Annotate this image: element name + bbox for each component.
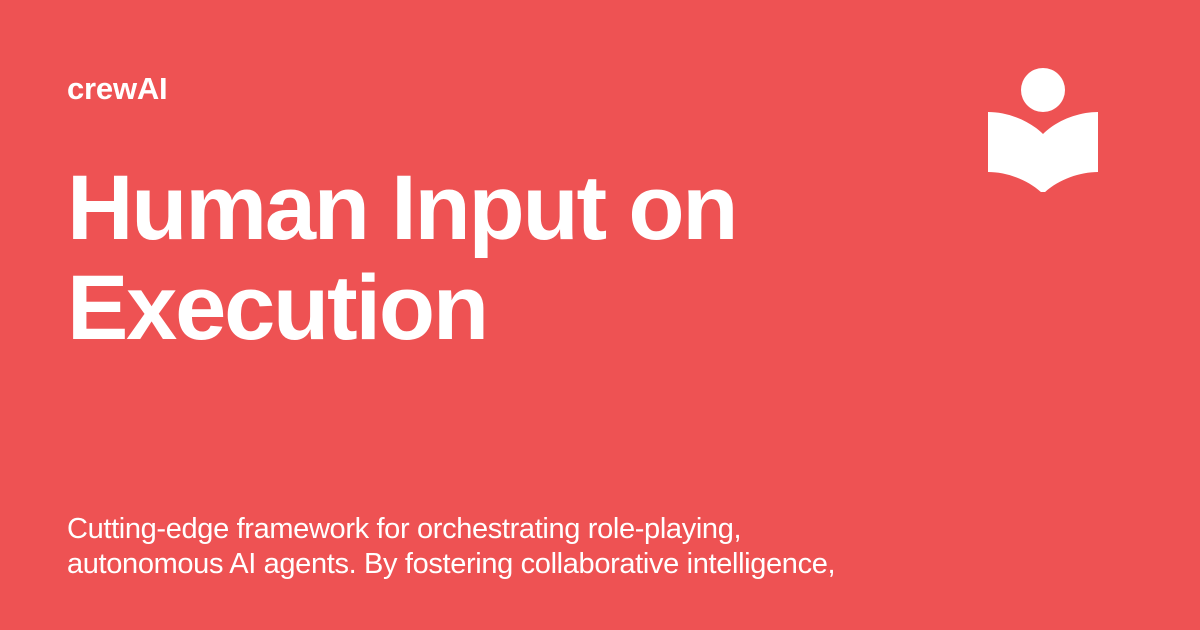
page-description: Cutting-edge framework for orchestrating…	[67, 512, 967, 582]
open-book-reader-icon	[985, 58, 1103, 192]
open-graph-card: crewAI Human Input on Execution Cutting-…	[0, 0, 1200, 630]
page-description-line-2: autonomous AI agents. By fostering colla…	[67, 547, 967, 582]
page-title: Human Input on Execution	[67, 158, 947, 358]
page-title-text: Human Input on Execution	[67, 157, 736, 359]
page-description-line-1: Cutting-edge framework for orchestrating…	[67, 512, 967, 547]
brand-name: crewAI	[67, 70, 167, 108]
